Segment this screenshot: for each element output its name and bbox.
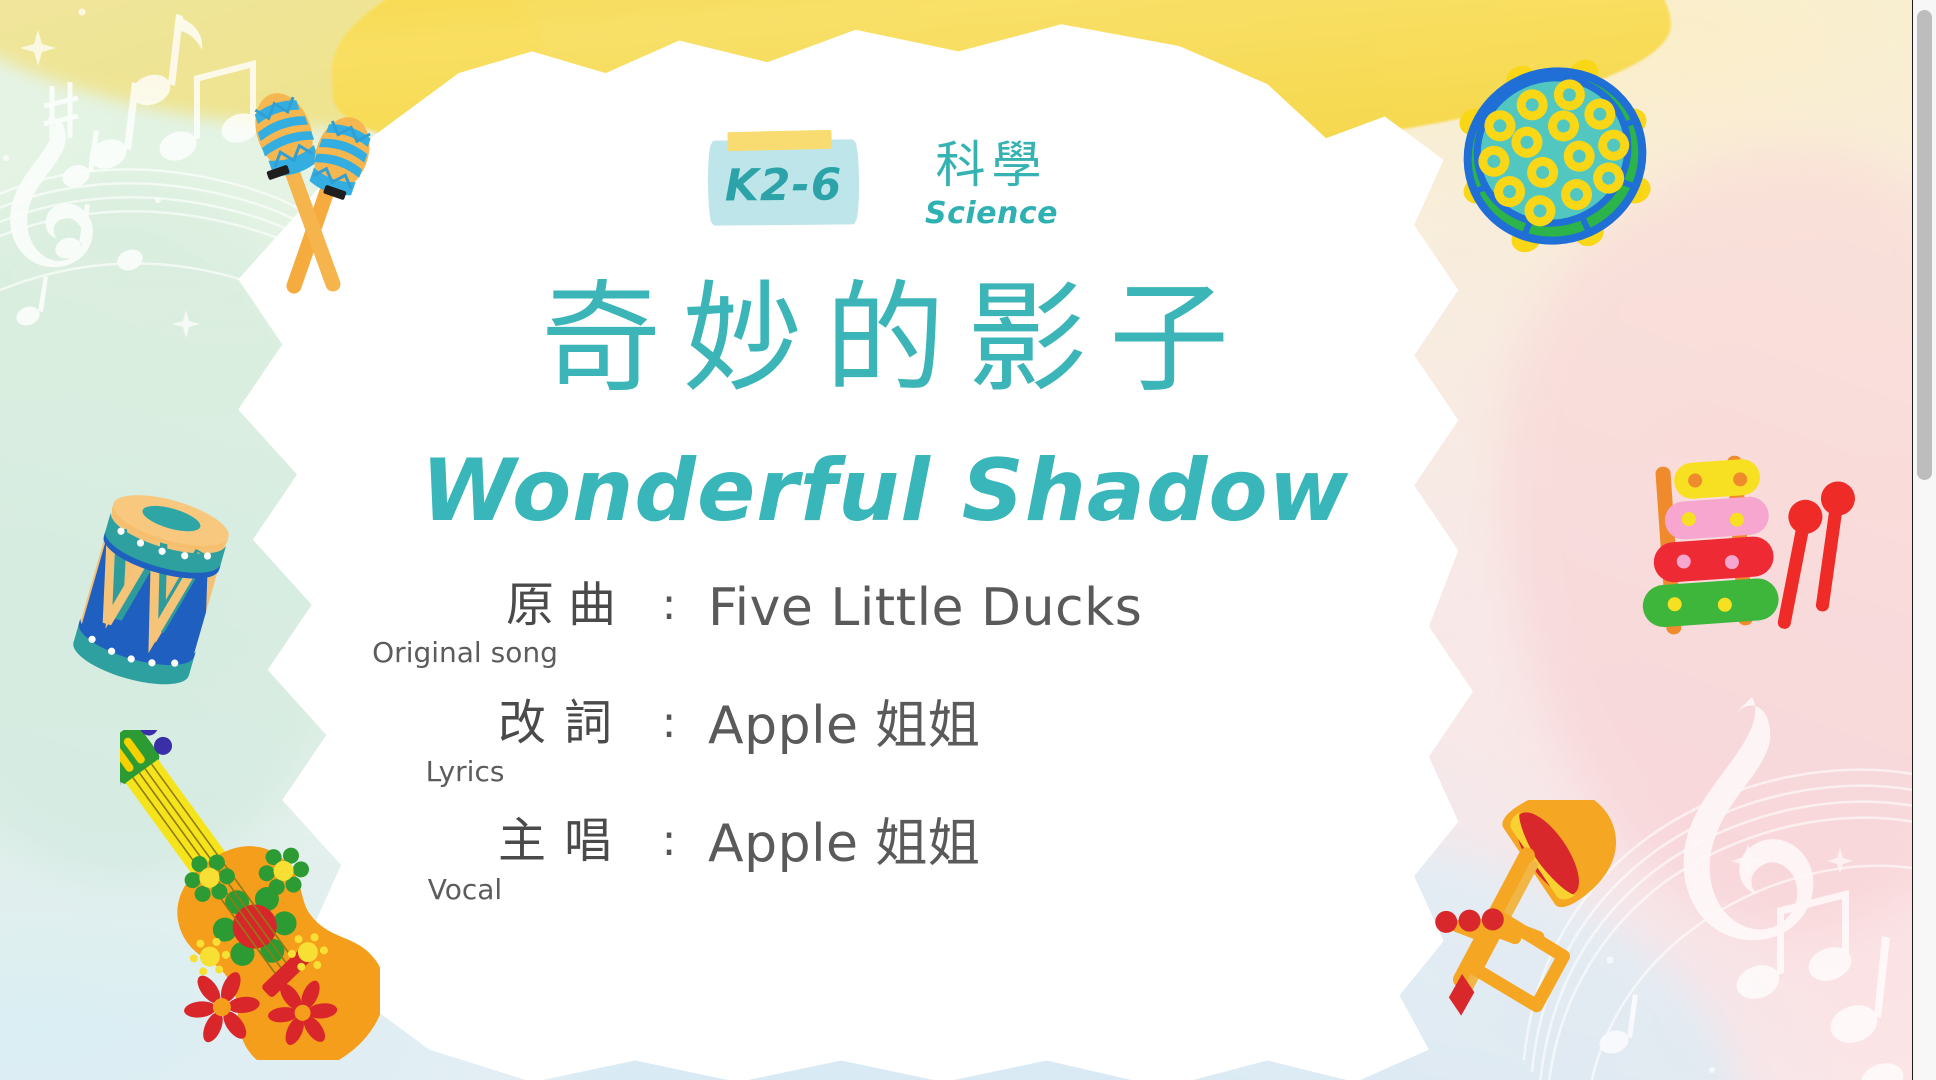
credit-label-en: Lyrics [330,753,630,791]
credit-row-original-song: 原曲 Original song : Five Little Ducks [330,580,1450,672]
credit-value-lyrics: Apple 姐姐 [708,698,1450,754]
credit-label-zh: 改詞 [330,698,630,748]
credits-list: 原曲 Original song : Five Little Ducks 改詞 … [330,580,1450,935]
credit-value-vocal: Apple 姐姐 [708,816,1450,872]
credit-label-original-song: 原曲 Original song [330,580,630,672]
vertical-scrollbar[interactable] [1912,0,1936,1080]
credit-label-vocal: 主唱 Vocal [330,816,630,908]
credit-row-vocal: 主唱 Vocal : Apple 姐姐 [330,816,1450,908]
credit-value-original-song: Five Little Ducks [708,580,1450,636]
lesson-title-slide: K2-6 科學 Science 奇妙的影子 Wonderful Shadow 原… [0,0,1912,1080]
credit-label-en: Original song [330,634,630,672]
scrollbar-thumb[interactable] [1917,10,1932,480]
slide-stage: K2-6 科學 Science 奇妙的影子 Wonderful Shadow 原… [0,0,1936,1080]
song-title-en: Wonderful Shadow [0,448,1770,534]
grade-badge-label: K2-6 [724,159,842,211]
credit-separator: : [630,698,708,747]
credit-separator: : [630,816,708,865]
subject-label-zh: 科學 [925,140,1058,190]
subject-label-en: Science [925,196,1058,231]
credit-label-lyrics: 改詞 Lyrics [330,698,630,790]
watercolor-wash-pink-right [1502,150,1912,930]
credit-label-zh: 主唱 [330,816,630,866]
credit-label-zh: 原曲 [330,580,630,630]
song-title-zh: 奇妙的影子 [0,280,1770,400]
tape-strip-icon [727,130,831,151]
grade-badge: K2-6 [712,139,856,225]
slide-header: K2-6 科學 Science [0,140,1770,231]
credit-label-en: Vocal [330,871,630,909]
credit-separator: : [630,580,708,629]
music-notes-watermark-bottomright [1462,660,1912,1080]
credit-row-lyrics: 改詞 Lyrics : Apple 姐姐 [330,698,1450,790]
subject-block: 科學 Science [925,140,1058,231]
